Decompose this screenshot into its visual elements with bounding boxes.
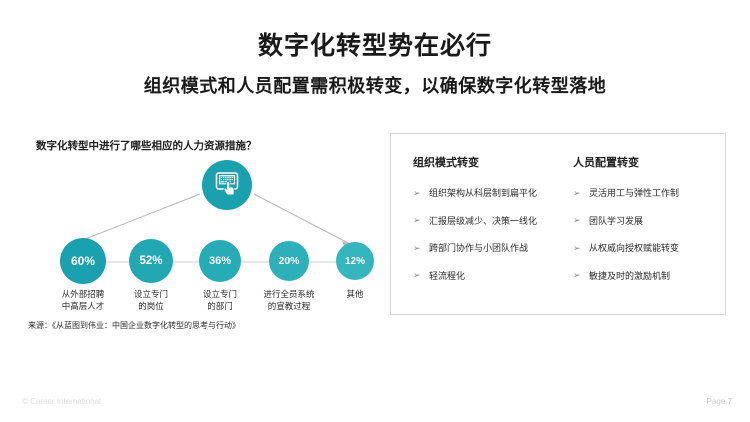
- measure-node-2: 52%: [129, 239, 173, 283]
- list-item: ➢ 跨部门协作与小团队作战: [413, 242, 568, 254]
- measure-node-4: 20%: [269, 241, 309, 281]
- page-subtitle: 组织模式和人员配置需积极转变，以确保数字化转型落地: [0, 72, 750, 98]
- arrow-bullet-icon: ➢: [573, 187, 581, 199]
- measure-node-5-value: 12%: [345, 256, 365, 267]
- list-item-label: 灵活用工与弹性工作制: [589, 188, 679, 198]
- list-item: ➢ 灵活用工与弹性工作制: [573, 187, 723, 199]
- measure-node-1-value: 60%: [71, 254, 95, 268]
- transformation-panel: 组织模式转变 ➢ 组织架构从科层制到扁平化 ➢ 汇报层级减少、决策一线化 ➢ 跨…: [390, 133, 726, 315]
- column-organization-mode-heading: 组织模式转变: [413, 154, 568, 170]
- arrow-bullet-icon: ➢: [413, 269, 421, 281]
- measure-node-1: 60%: [60, 238, 106, 284]
- list-item-label: 跨部门协作与小团队作战: [429, 243, 528, 253]
- tablet-touch-icon: [213, 169, 241, 202]
- measure-node-4-label-line2: 的宣教过程: [239, 300, 339, 312]
- source-note: 来源：《从蓝图到伟业：中国企业数字化转型的思考与行动》: [28, 320, 240, 331]
- slide-canvas: 数字化转型势在必行 组织模式和人员配置需积极转变，以确保数字化转型落地 数字化转…: [0, 0, 750, 422]
- list-item: ➢ 敏捷及时的激励机制: [573, 270, 723, 282]
- list-item: ➢ 汇报层级减少、决策一线化: [413, 215, 568, 227]
- list-item-label: 敏捷及时的激励机制: [589, 271, 670, 281]
- arrow-bullet-icon: ➢: [573, 214, 581, 226]
- hub-node: [202, 160, 252, 210]
- list-item: ➢ 组织架构从科层制到扁平化: [413, 187, 568, 199]
- measure-node-3: 36%: [199, 240, 241, 282]
- page-title: 数字化转型势在必行: [0, 26, 750, 62]
- footer-copyright: © Career International: [22, 397, 101, 406]
- list-item-label: 轻流程化: [429, 271, 465, 281]
- list-item-label: 汇报层级减少、决策一线化: [429, 216, 537, 226]
- list-item: ➢ 从权威向授权赋能转变: [573, 242, 723, 254]
- list-item: ➢ 轻流程化: [413, 270, 568, 282]
- arrow-bullet-icon: ➢: [413, 187, 421, 199]
- measure-node-5: 12%: [336, 242, 374, 280]
- column-staffing-mode-heading: 人员配置转变: [573, 154, 723, 170]
- column-staffing-mode: 人员配置转变 ➢ 灵活用工与弹性工作制 ➢ 团队学习发展 ➢ 从权威向授权赋能转…: [573, 154, 723, 297]
- arrow-bullet-icon: ➢: [573, 269, 581, 281]
- footer-page-number: Page 7: [707, 397, 732, 406]
- measure-node-4-value: 20%: [278, 255, 299, 267]
- measure-node-3-value: 36%: [209, 255, 231, 267]
- list-item-label: 团队学习发展: [589, 216, 643, 226]
- arrow-bullet-icon: ➢: [413, 242, 421, 254]
- left-chart-panel: 数字化转型中进行了哪些相应的人力资源措施？: [22, 128, 372, 340]
- list-item: ➢ 团队学习发展: [573, 215, 723, 227]
- list-item-label: 从权威向授权赋能转变: [589, 243, 679, 253]
- chart-question: 数字化转型中进行了哪些相应的人力资源措施？: [36, 138, 257, 153]
- list-item-label: 组织架构从科层制到扁平化: [429, 188, 537, 198]
- arrow-bullet-icon: ➢: [573, 242, 581, 254]
- column-organization-mode: 组织模式转变 ➢ 组织架构从科层制到扁平化 ➢ 汇报层级减少、决策一线化 ➢ 跨…: [413, 154, 568, 297]
- arrow-bullet-icon: ➢: [413, 214, 421, 226]
- measure-node-2-value: 52%: [139, 255, 162, 267]
